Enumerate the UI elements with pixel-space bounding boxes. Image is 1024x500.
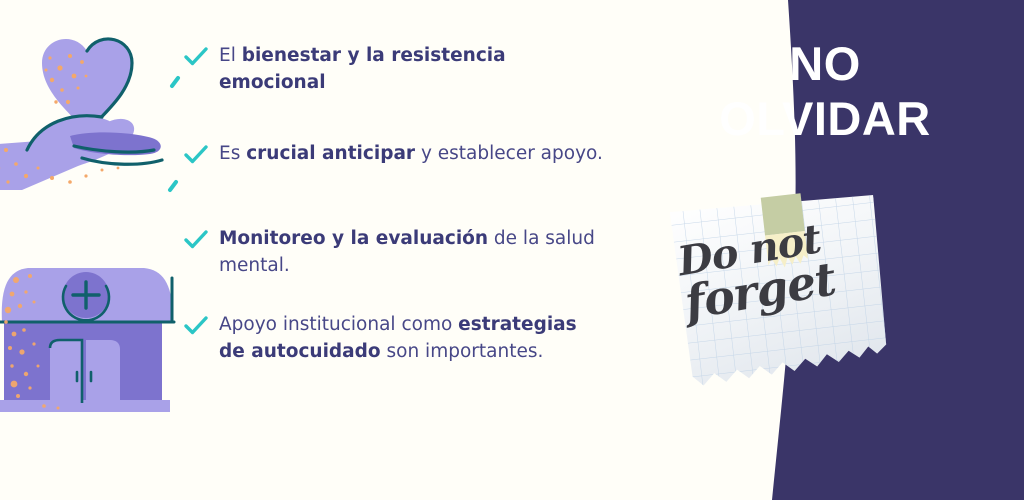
check-icon <box>183 44 219 75</box>
bullet-item-1: El bienestar y la resistencia emocional <box>183 42 603 96</box>
bullet-text-4: Apoyo institucional como estrategias de … <box>219 311 603 365</box>
infographic-slide: El bienestar y la resistencia emocional … <box>0 0 1024 500</box>
bullet-item-2: Es crucial anticipar y establecer apoyo. <box>183 140 603 173</box>
title-line-1: NO <box>626 36 1024 91</box>
bullet-text-1: El bienestar y la resistencia emocional <box>219 42 603 96</box>
hand-holding-heart-illustration <box>0 18 182 208</box>
note-paper <box>665 185 898 408</box>
check-icon <box>183 142 219 173</box>
check-icon <box>183 227 219 258</box>
check-icon <box>183 313 219 344</box>
bullet-item-3: Monitoreo y la evaluación de la salud me… <box>183 225 603 279</box>
title-line-2: OLVIDAR <box>626 91 1024 146</box>
bullet-text-2: Es crucial anticipar y establecer apoyo. <box>219 140 603 167</box>
bullet-text-3: Monitoreo y la evaluación de la salud me… <box>219 225 603 279</box>
page-title: NO OLVIDAR <box>594 36 1024 147</box>
bullet-list: El bienestar y la resistencia emocional … <box>183 42 603 365</box>
clinic-building-illustration <box>0 248 184 418</box>
bullet-item-4: Apoyo institucional como estrategias de … <box>183 311 603 365</box>
sticky-note: Do not forget <box>665 185 898 408</box>
